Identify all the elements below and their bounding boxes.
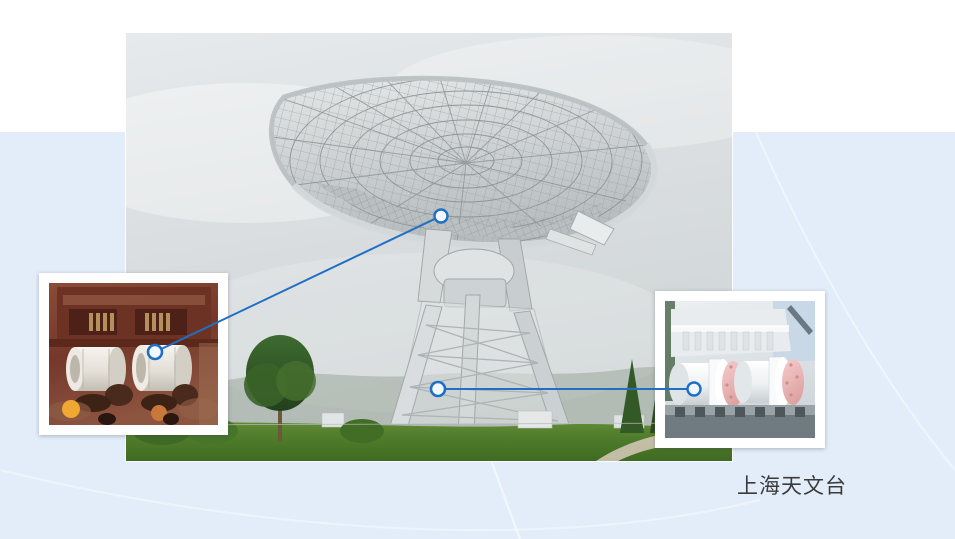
gearbox-after-scene	[665, 301, 815, 438]
inset-photo-before	[39, 273, 228, 435]
photo-caption: 上海天文台	[737, 470, 847, 500]
gearbox-before-scene	[49, 283, 218, 425]
inset-photo-after	[655, 291, 825, 448]
drum-left-after	[669, 359, 744, 409]
inset-before-inner	[49, 283, 218, 425]
slide-canvas: 上海天文台	[0, 0, 955, 539]
inset-after-inner	[665, 301, 815, 438]
drum-right-after	[734, 357, 804, 407]
